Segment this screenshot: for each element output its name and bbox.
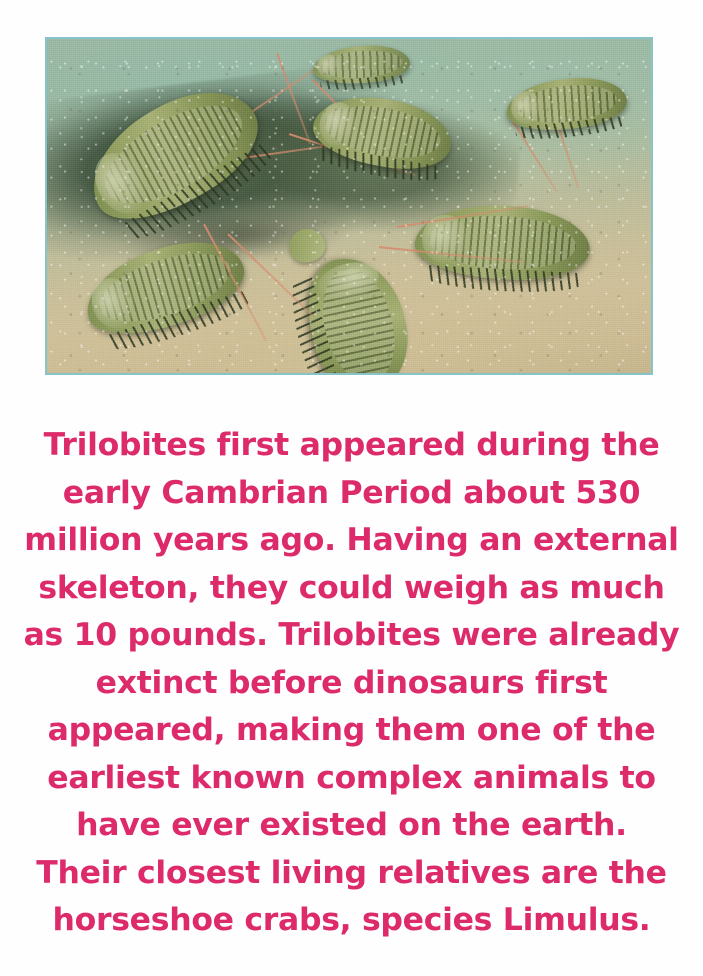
- caption-text-block: Trilobites first appeared during the ear…: [18, 422, 685, 945]
- film-grain-texture: [47, 39, 651, 373]
- fact-card-page: Trilobites first appeared during the ear…: [0, 0, 703, 976]
- caption-line: extinct before dinosaurs first: [18, 660, 685, 708]
- caption-line: horseshoe crabs, species Limulus.: [18, 897, 685, 945]
- caption-line: million years ago. Having an external: [18, 517, 685, 565]
- caption-line: early Cambrian Period about 530: [18, 470, 685, 518]
- caption-line: appeared, making them one of the: [18, 707, 685, 755]
- caption-line: skeleton, they could weigh as much: [18, 565, 685, 613]
- caption-line: Trilobites first appeared during the: [18, 422, 685, 470]
- caption-line: Their closest living relatives are the: [18, 850, 685, 898]
- caption-line: earliest known complex animals to: [18, 755, 685, 803]
- trilobite-photo: [45, 37, 653, 375]
- caption-line: have ever existed on the earth.: [18, 802, 685, 850]
- caption-line: as 10 pounds. Trilobites were already: [18, 612, 685, 660]
- photo-scene: [47, 39, 651, 373]
